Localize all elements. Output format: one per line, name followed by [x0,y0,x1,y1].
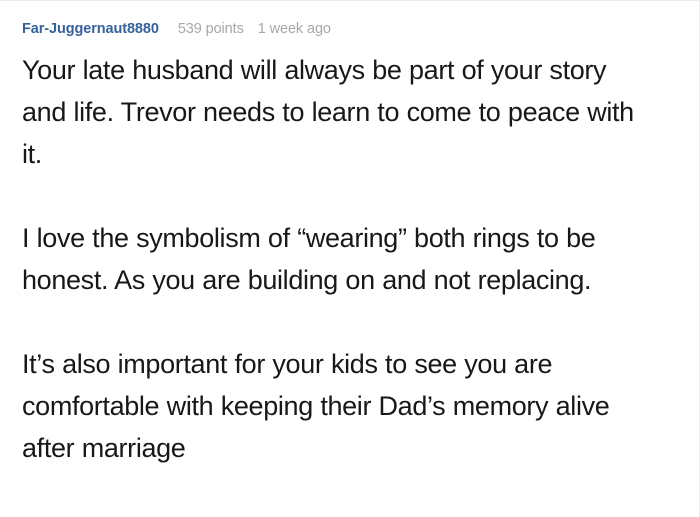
comment-points: 539 points [178,21,244,37]
comment-paragraph: Your late husband will always be part of… [22,49,652,175]
comment-timestamp: 1 week ago [258,21,331,37]
comment-body: Your late husband will always be part of… [22,49,652,469]
comment-card: Far-Juggernaut8880539 points1 week ago Y… [0,0,700,517]
comment-paragraph: I love the symbolism of “wearing” both r… [22,217,652,301]
comment-author-link[interactable]: Far-Juggernaut8880 [22,21,159,37]
comment-paragraph: It’s also important for your kids to see… [22,343,652,469]
comment-header: Far-Juggernaut8880539 points1 week ago [22,19,677,39]
